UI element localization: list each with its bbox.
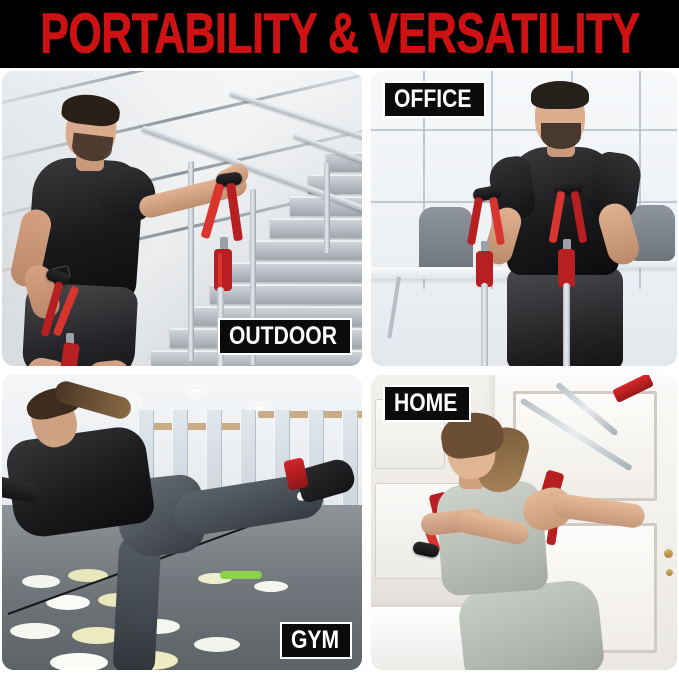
panel-label-text: HOME [394,390,457,415]
panel-label-office: OFFICE [383,81,486,118]
page-title: PORTABILITY & VERSATILITY [17,10,661,56]
band-cord [481,283,488,366]
band-cuff [476,251,493,287]
panel-label-outdoor: OUTDOOR [218,318,352,355]
panel-label-text: GYM [291,627,339,652]
panel-label-home: HOME [383,385,471,422]
header-banner: PORTABILITY & VERSATILITY [0,0,679,68]
door-knob [664,549,673,558]
door-lock [666,569,673,576]
band-strap [200,183,224,239]
panel-office: OFFICE [371,71,677,366]
panel-home: HOME [371,375,677,670]
band-detail [218,253,222,289]
infographic-root: PORTABILITY & VERSATILITY [0,0,679,673]
panel-label-text: OFFICE [394,86,471,111]
person-home [427,413,657,670]
arm-right [552,493,646,530]
panel-outdoor: OUTDOOR [2,71,362,366]
band-cord [563,283,570,366]
hair [531,81,589,109]
page-title-text: PORTABILITY & VERSATILITY [40,5,639,61]
band-strap [226,183,243,242]
panel-label-text: OUTDOOR [229,323,337,348]
office-chair [419,207,473,275]
band-cuff [558,249,575,287]
panel-label-gym: GYM [280,622,352,659]
band-cuff [60,342,80,366]
panel-grid: OUTDOOR [0,70,679,673]
band-cuff [214,249,232,291]
panel-gym: GYM [2,375,362,670]
beard [541,123,581,149]
